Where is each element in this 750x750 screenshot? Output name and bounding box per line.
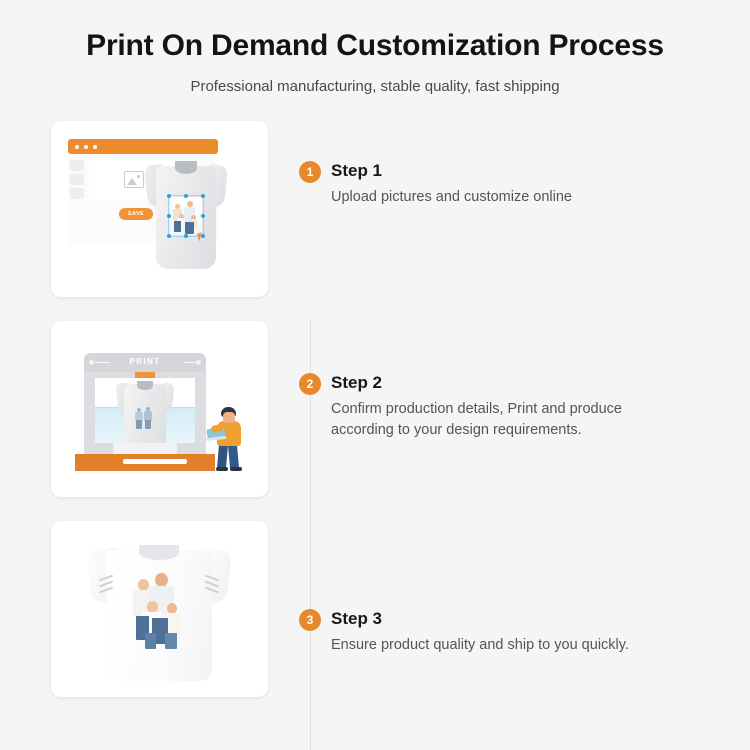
- step-2-number-badge: 2: [299, 373, 321, 395]
- printer-dash-decor: [95, 362, 110, 363]
- page-subtitle: Professional manufacturing, stable quali…: [0, 78, 750, 95]
- selection-box[interactable]: [168, 195, 204, 237]
- operator-shoe-right: [230, 467, 242, 471]
- printer-knob-icon: [196, 360, 201, 365]
- tshirt-mockup: [146, 157, 226, 269]
- step-1-image-card[interactable]: SAVE: [51, 121, 268, 297]
- step-3-image-card[interactable]: [51, 521, 268, 697]
- photo-person-head: [155, 573, 168, 587]
- photo-person-legs: [165, 633, 177, 649]
- shipping-box: [193, 455, 206, 471]
- photo-person-legs: [145, 420, 151, 429]
- family-photo-print: [133, 405, 155, 431]
- operator-face: [223, 412, 235, 423]
- step-1-title: Step 1: [331, 161, 382, 181]
- finished-tshirt: [89, 539, 229, 681]
- step-3-title: Step 3: [331, 609, 382, 629]
- step-3-number-badge: 3: [299, 609, 321, 631]
- operator-leg-left: [217, 444, 228, 470]
- browser-dot-icon: [75, 145, 79, 149]
- printing-machine-illustration: PRINT: [51, 321, 268, 497]
- browser-title-bar: [68, 139, 218, 154]
- step-1-description: Upload pictures and customize online: [331, 187, 572, 208]
- step-2-description: Confirm production details, Print and pr…: [331, 399, 622, 441]
- sidebar-block: [70, 188, 84, 199]
- operator-leg-right: [228, 444, 239, 470]
- step-row-2: PRINT: [51, 321, 741, 497]
- image-placeholder-icon: [124, 171, 144, 188]
- sidebar-block: [70, 174, 84, 185]
- browser-dot-icon: [84, 145, 88, 149]
- page-title: Print On Demand Customization Process: [0, 28, 750, 64]
- finished-tshirt-illustration: [51, 521, 268, 697]
- resize-handle[interactable]: [167, 214, 172, 219]
- operator-figure: [209, 407, 249, 471]
- step-1-number-badge: 1: [299, 161, 321, 183]
- photo-person-legs: [136, 420, 142, 429]
- step-row-1: SAVE: [51, 121, 741, 297]
- sidebar-block: [70, 160, 84, 171]
- step-3-description: Ensure product quality and ship to you q…: [331, 635, 629, 656]
- printer-knob-icon: [89, 360, 94, 365]
- page-root: Print On Demand Customization Process Pr…: [0, 0, 750, 750]
- resize-handle[interactable]: [184, 194, 189, 199]
- tshirt-collar: [175, 161, 197, 173]
- page-header: Print On Demand Customization Process Pr…: [0, 0, 750, 95]
- operator-shoe-left: [216, 467, 228, 471]
- tshirt-collar: [137, 381, 153, 390]
- step-row-3: 3 Step 3 Ensure product quality and ship…: [51, 521, 741, 697]
- resize-handle[interactable]: [167, 194, 172, 199]
- printer-base-slot: [123, 459, 187, 464]
- step-2-title: Step 2: [331, 373, 382, 393]
- browser-editor-illustration: SAVE: [51, 121, 268, 297]
- photo-person-legs: [145, 633, 156, 649]
- printer-pedestal: [113, 443, 177, 454]
- step-2-image-card[interactable]: PRINT: [51, 321, 268, 497]
- family-photo-print: [127, 569, 191, 651]
- browser-dot-icon: [93, 145, 97, 149]
